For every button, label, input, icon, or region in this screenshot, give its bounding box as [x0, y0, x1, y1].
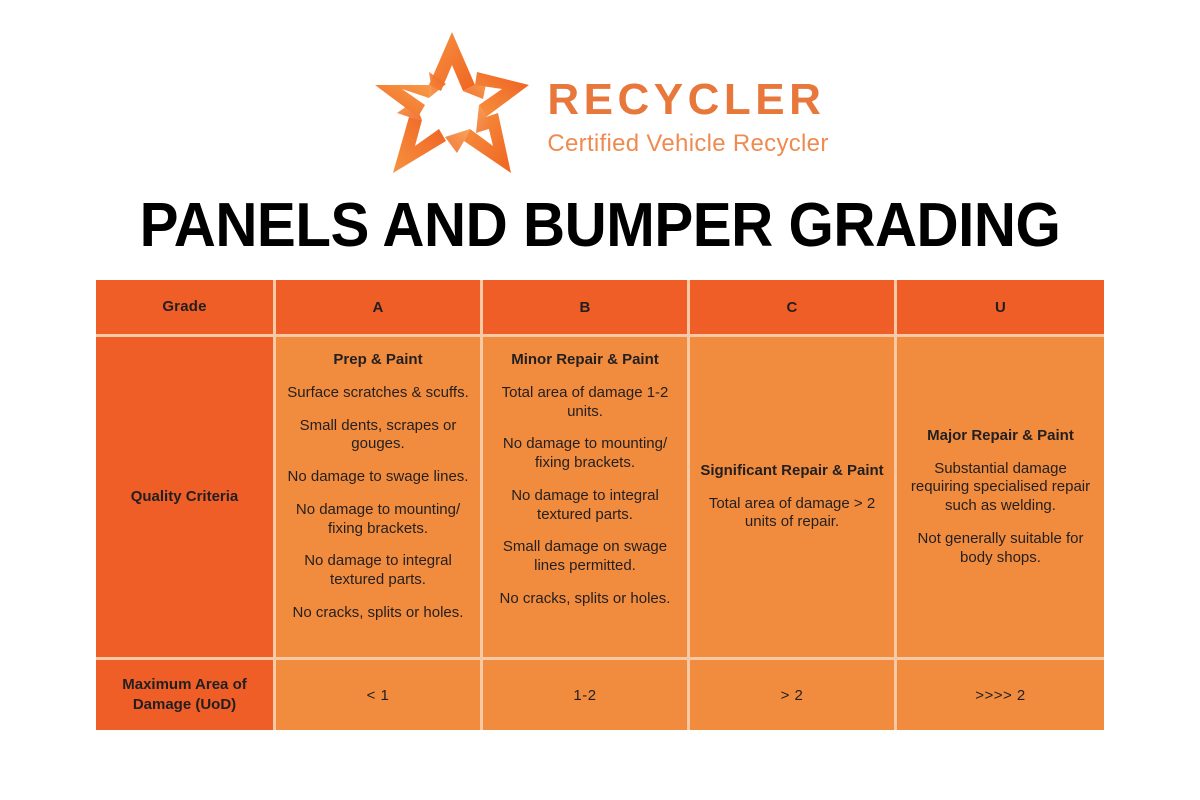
cell-max-area-u: >>>> 2: [897, 660, 1104, 730]
header-grade-u: U: [897, 280, 1104, 337]
logo-wordmark: RECYCLER Certified Vehicle Recycler: [547, 50, 828, 156]
header-grade-a: A: [276, 280, 483, 337]
max-area-value: 1-2: [573, 687, 596, 704]
max-area-value: < 1: [367, 687, 390, 704]
criteria-line: Surface scratches & scuffs.: [287, 384, 468, 403]
criteria-heading: Significant Repair & Paint: [700, 462, 883, 481]
criteria-heading: Major Repair & Paint: [927, 427, 1074, 446]
table-row-maximum-area: Maximum Area of Damage (UoD) < 1 1-2 > 2…: [96, 660, 1104, 730]
criteria-line: No cracks, splits or holes.: [500, 590, 671, 609]
criteria-line: Small dents, scrapes or gouges.: [286, 417, 470, 455]
max-area-value: >>>> 2: [975, 687, 1026, 704]
header-grade: Grade: [96, 280, 276, 337]
page-title: PANELS AND BUMPER GRADING: [36, 192, 1164, 260]
criteria-line: No cracks, splits or holes.: [293, 604, 464, 623]
cell-quality-criteria-c: Significant Repair & Paint Total area of…: [690, 337, 897, 660]
criteria-line: No damage to integral textured parts.: [493, 487, 677, 525]
row-label-quality-criteria: Quality Criteria: [96, 337, 276, 660]
cell-max-area-a: < 1: [276, 660, 483, 730]
criteria-line: No damage to integral textured parts.: [286, 552, 470, 590]
cell-max-area-c: > 2: [690, 660, 897, 730]
grading-table: Grade A B C U Quality Criteria Prep & Pa…: [96, 280, 1104, 730]
row-label-maximum-area: Maximum Area of Damage (UoD): [96, 660, 276, 730]
criteria-line: Small damage on swage lines permitted.: [493, 538, 677, 576]
logo-title: RECYCLER: [547, 78, 828, 122]
cell-quality-criteria-u: Major Repair & Paint Substantial damage …: [897, 337, 1104, 660]
header-grade-c: C: [690, 280, 897, 337]
criteria-heading: Minor Repair & Paint: [511, 351, 659, 370]
criteria-line: No damage to mounting/ fixing brackets.: [493, 435, 677, 473]
cell-quality-criteria-b: Minor Repair & Paint Total area of damag…: [483, 337, 690, 660]
criteria-line: Substantial damage requiring specialised…: [907, 460, 1094, 516]
criteria-line: No damage to mounting/ fixing brackets.: [286, 501, 470, 539]
recycling-star-logo-icon: [371, 29, 533, 177]
criteria-line: Total area of damage > 2 units of repair…: [700, 495, 884, 533]
cell-quality-criteria-a: Prep & Paint Surface scratches & scuffs.…: [276, 337, 483, 660]
brand-logo: RECYCLER Certified Vehicle Recycler: [0, 28, 1200, 178]
table-header-row: Grade A B C U: [96, 280, 1104, 337]
max-area-value: > 2: [781, 687, 804, 704]
criteria-line: No damage to swage lines.: [288, 468, 469, 487]
grading-poster: RECYCLER Certified Vehicle Recycler PANE…: [0, 0, 1200, 800]
logo-tagline: Certified Vehicle Recycler: [547, 132, 828, 156]
header-grade-b: B: [483, 280, 690, 337]
criteria-heading: Prep & Paint: [333, 351, 422, 370]
criteria-line: Total area of damage 1-2 units.: [493, 384, 677, 422]
criteria-line: Not generally suitable for body shops.: [907, 530, 1094, 568]
cell-max-area-b: 1-2: [483, 660, 690, 730]
table-row-quality-criteria: Quality Criteria Prep & Paint Surface sc…: [96, 337, 1104, 660]
